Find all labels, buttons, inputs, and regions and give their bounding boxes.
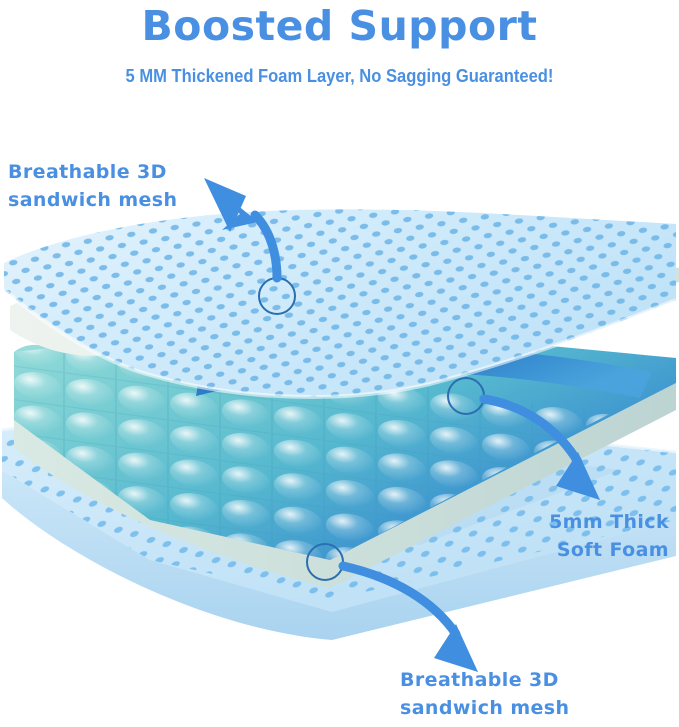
- callout-top-line2: sandwich mesh: [8, 186, 177, 214]
- callout-top-breathable-mesh: Breathable 3D sandwich mesh: [8, 158, 177, 214]
- callout-top-line1: Breathable 3D: [8, 161, 167, 183]
- callout-foam-line1: 5mm Thick: [549, 511, 669, 533]
- callout-bottom-line2: sandwich mesh: [400, 694, 569, 722]
- page-title: Boosted Support: [0, 2, 679, 50]
- callout-bottom-line1: Breathable 3D: [400, 669, 559, 691]
- infographic-canvas: Boosted Support 5 MM Thickened Foam Laye…: [0, 0, 679, 727]
- callout-bottom-breathable-mesh: Breathable 3D sandwich mesh: [400, 666, 569, 722]
- callout-foam-line2: Soft Foam: [469, 536, 669, 564]
- layered-product-illustration: [0, 0, 679, 727]
- page-subtitle: 5 MM Thickened Foam Layer, No Sagging Gu…: [27, 66, 652, 87]
- callout-soft-foam: 5mm Thick Soft Foam: [469, 508, 669, 564]
